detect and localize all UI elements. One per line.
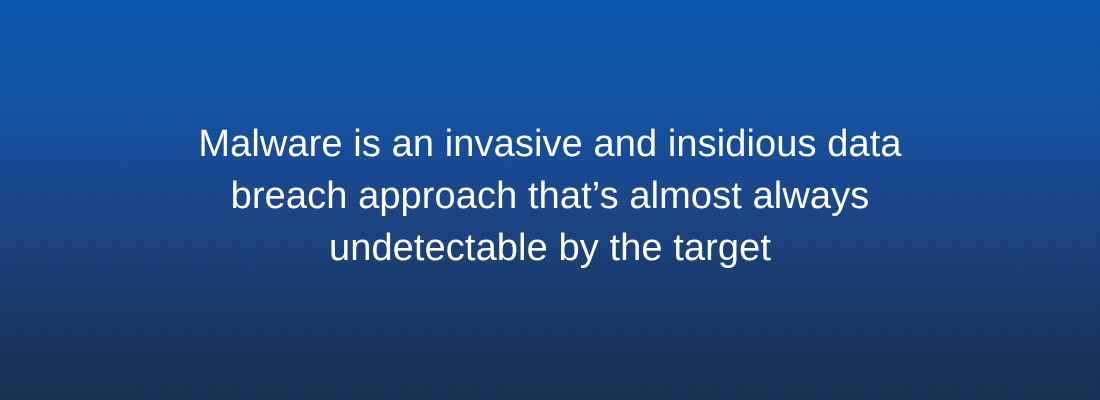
quote-text-block: Malware is an invasive and insidious dat… xyxy=(0,118,1100,274)
quote-line-3: undetectable by the target xyxy=(60,222,1040,274)
quote-line-2: breach approach that’s almost always xyxy=(60,170,1040,222)
quote-line-1: Malware is an invasive and insidious dat… xyxy=(60,118,1040,170)
quote-slide: Malware is an invasive and insidious dat… xyxy=(0,0,1100,400)
